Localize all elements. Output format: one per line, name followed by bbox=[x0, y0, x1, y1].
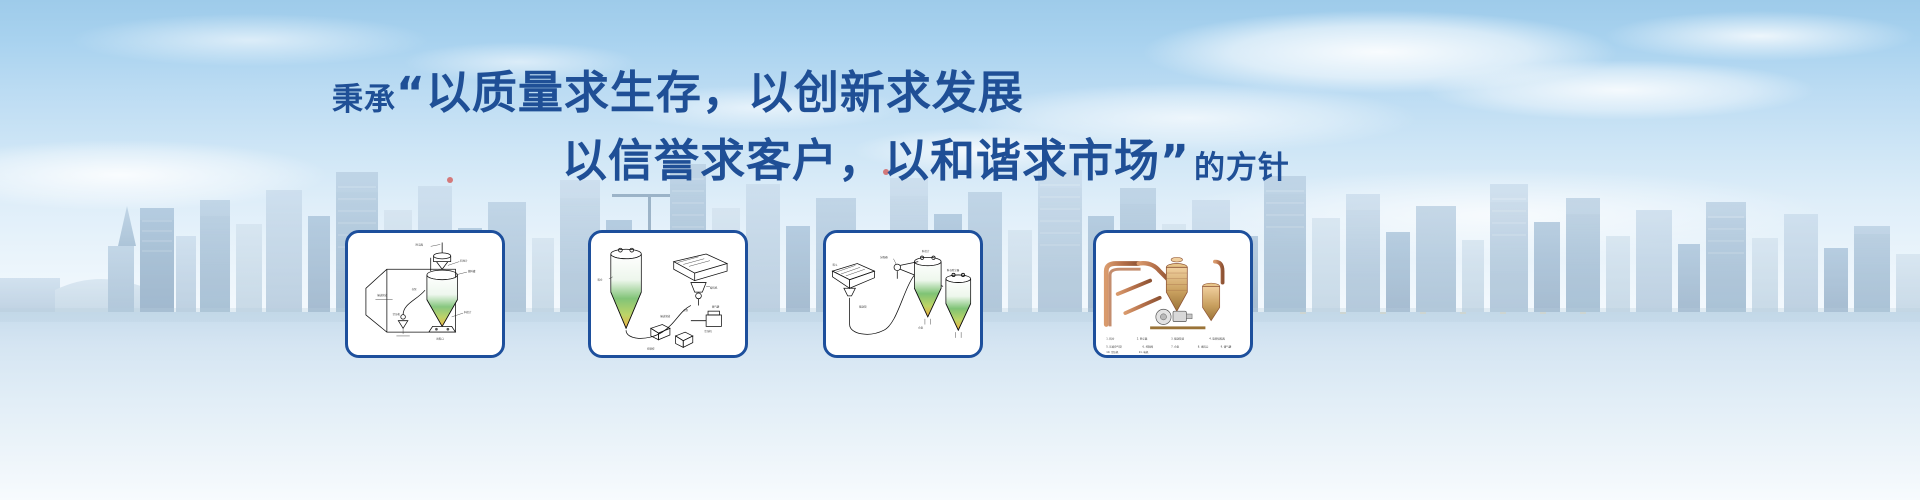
hero-banner: 秉承“以质量求生存，以创新求发展 以信誉求客户，以和谐求市场”的方针 bbox=[0, 0, 1920, 500]
panel-4-legend-3: 4. 旋转供料器 bbox=[1209, 337, 1225, 341]
panel-3-label-5: 仓泵 bbox=[918, 325, 923, 329]
panel-4-legend-4: 5. 压缩空气管 bbox=[1106, 344, 1122, 348]
panel-4-legend-0: 1. 料仓 bbox=[1106, 337, 1115, 341]
panel-4-legend-10: 11. 电机 bbox=[1139, 350, 1149, 354]
diagram-panel-4[interactable]: 1. 料仓 2. 除尘器 3. 输送管道 4. 旋转供料器 5. 压缩空气管 6… bbox=[1093, 230, 1253, 358]
diagram-panel-2[interactable]: 料仓 给料机 输送管道 仓泵 控制柜 空压机 储气罐 bbox=[588, 230, 748, 358]
diagram-panel-3[interactable]: 分配器 料位计 料仓除尘器 输送管 料斗 仓泵 bbox=[823, 230, 983, 358]
panel-1-label-4: 仓泵 bbox=[412, 287, 417, 291]
panel-4-legend-7: 8. 出料口 bbox=[1198, 344, 1209, 348]
diagram-panel-1[interactable]: 除尘器 料位计 储料罐 料位计 仓泵 输送管道 空压机 出料口 bbox=[345, 230, 505, 358]
panel-3-label-0: 分配器 bbox=[880, 255, 888, 259]
pneumatic-conveying-diagram-1: 除尘器 料位计 储料罐 料位计 仓泵 输送管道 空压机 出料口 bbox=[348, 233, 502, 355]
panel-1-label-3: 料位计 bbox=[464, 310, 472, 314]
panel-1-label-1: 料位计 bbox=[460, 259, 468, 263]
panel-1-label-6: 空压机 bbox=[393, 312, 401, 316]
panel-1-label-2: 储料罐 bbox=[468, 269, 476, 273]
panel-4-legend-2: 3. 输送管道 bbox=[1171, 337, 1185, 341]
pneumatic-conveying-diagram-3: 分配器 料位计 料仓除尘器 输送管 料斗 仓泵 bbox=[826, 233, 980, 355]
panel-3-label-2: 料仓除尘器 bbox=[947, 268, 960, 272]
panel-3-label-1: 料位计 bbox=[922, 249, 930, 253]
panel-1-label-5: 输送管道 bbox=[377, 293, 387, 297]
panel-2-label-0: 料仓 bbox=[597, 278, 602, 282]
panel-2-label-4: 控制柜 bbox=[647, 346, 655, 350]
panel-4-legend-5: 6. 控制阀 bbox=[1143, 344, 1154, 348]
panel-1-label-7: 出料口 bbox=[436, 337, 444, 341]
panel-4-legend-8: 9. 储气罐 bbox=[1221, 344, 1232, 348]
copper-pipe-conveying-diagram: 1. 料仓 2. 除尘器 3. 输送管道 4. 旋转供料器 5. 压缩空气管 6… bbox=[1096, 233, 1250, 355]
panel-2-label-3: 仓泵 bbox=[683, 308, 688, 312]
panel-2-label-2: 输送管道 bbox=[660, 314, 670, 318]
pneumatic-conveying-diagram-2: 料仓 给料机 输送管道 仓泵 控制柜 空压机 储气罐 bbox=[591, 233, 745, 355]
panel-3-label-4: 料斗 bbox=[832, 262, 837, 266]
panel-2-label-1: 给料机 bbox=[710, 285, 718, 289]
panel-3-label-3: 输送管 bbox=[859, 304, 867, 308]
panel-4-legend-6: 7. 仓泵 bbox=[1171, 344, 1180, 348]
panel-2-label-5: 空压机 bbox=[704, 329, 712, 333]
panel-4-legend-1: 2. 除尘器 bbox=[1137, 337, 1148, 341]
panel-2-label-6: 储气罐 bbox=[712, 304, 720, 308]
panel-1-label-0: 除尘器 bbox=[415, 242, 423, 246]
diagram-panel-row: 除尘器 料位计 储料罐 料位计 仓泵 输送管道 空压机 出料口 bbox=[0, 0, 1920, 500]
panel-4-legend-9: 10. 空压机 bbox=[1106, 350, 1119, 354]
